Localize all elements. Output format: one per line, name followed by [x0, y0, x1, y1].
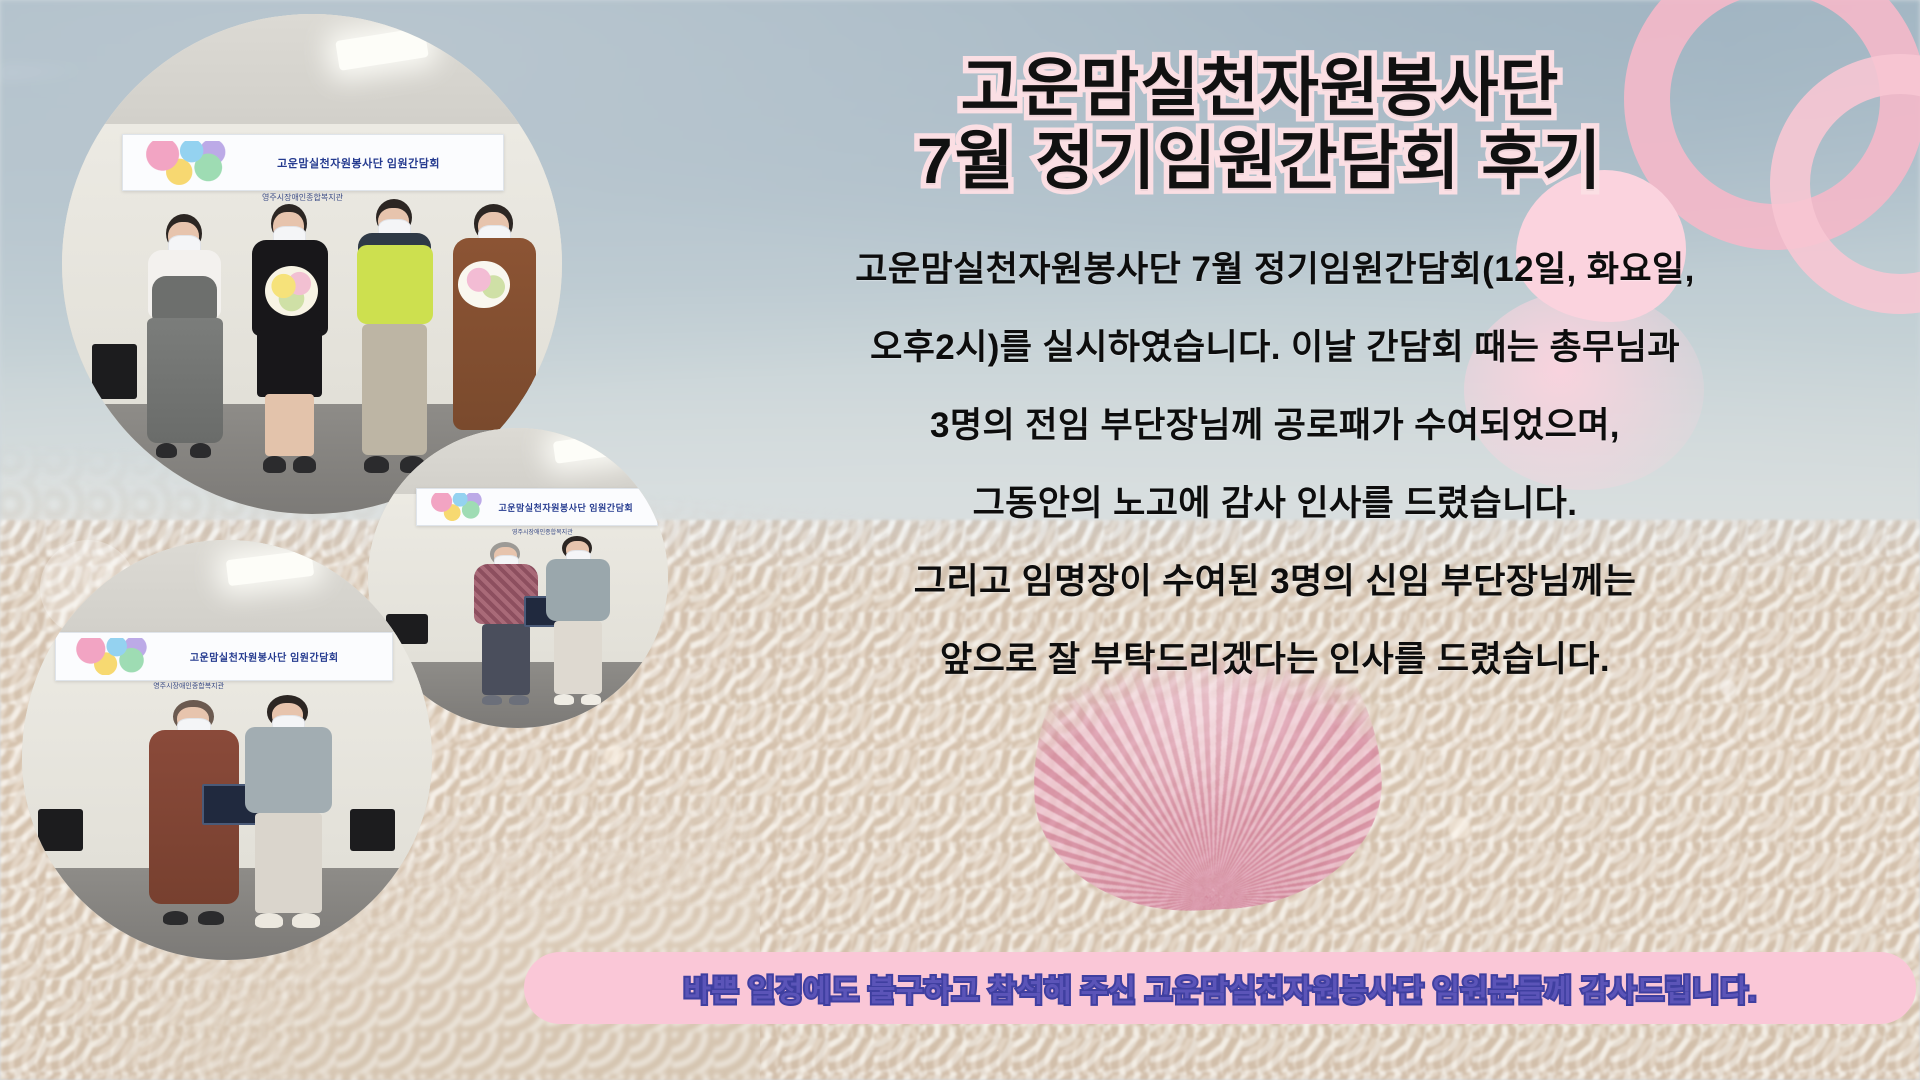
poster-body-text: 고운맘실천자원봉사단 7월 정기임원간담회(12일, 화요일, 오후2시)를 실…: [650, 252, 1900, 677]
banner-subcaption-text: 영주시장애인종합복지관: [153, 681, 224, 691]
body-line-6: 앞으로 잘 부탁드리겠다는 인사를 드렸습니다.: [650, 642, 1900, 677]
photo-person: [542, 536, 614, 710]
photo-person: [137, 214, 232, 474]
banner-logo-dots: [76, 638, 150, 675]
poster-canvas: 고운맘실천자원봉사단 임원간담회 영주시장애인종합복지관: [0, 0, 1920, 1080]
body-line-1: 고운맘실천자원봉사단 7월 정기임원간담회(12일, 화요일,: [650, 252, 1900, 287]
ceiling: [368, 428, 668, 496]
footer-banner-text: 바쁜 일정에도 불구하고 참석해 주신 고운맘실천자원봉사단 임원분들께 감사드…: [683, 966, 1756, 1010]
body-line-2: 오후2시)를 실시하였습니다. 이날 간담회 때는 총무님과: [650, 330, 1900, 365]
photo-person: [239, 695, 337, 934]
ceiling: [22, 540, 432, 634]
photo-person: [242, 204, 337, 484]
ceiling-light: [226, 550, 315, 586]
body-line-3: 3명의 전임 부단장님께 공로패가 수여되었으며,: [650, 408, 1900, 443]
stage-speaker-left: [38, 809, 83, 851]
ceiling-light: [553, 432, 625, 464]
event-backdrop-banner: 고운맘실천자원봉사단 임원간담회: [416, 488, 658, 526]
banner-subcaption-text: 영주시장애인종합복지관: [512, 527, 573, 536]
banner-subcaption-text: 영주시장애인종합복지관: [262, 192, 343, 203]
stage-speaker-left: [92, 344, 137, 399]
ceiling-light: [335, 27, 429, 71]
event-backdrop-banner: 고운맘실천자원봉사단 임원간담회: [55, 632, 393, 680]
stage-speaker-right: [350, 809, 395, 851]
poster-title: 고운맘실천자원봉사단 7월 정기임원간담회 후기: [640, 52, 1880, 198]
photo-room-scene: 고운맘실천자원봉사단 임원간담회 영주시장애인종합복지관: [22, 540, 432, 960]
body-line-5: 그리고 임명장이 수여된 3명의 신임 부단장님께는: [650, 564, 1900, 599]
body-line-4: 그동안의 노고에 감사 인사를 드렸습니다.: [650, 486, 1900, 521]
event-backdrop-banner: 고운맘실천자원봉사단 임원간담회: [122, 134, 504, 191]
photo-person: [447, 204, 542, 464]
photo-bottom-left-award: 고운맘실천자원봉사단 임원간담회 영주시장애인종합복지관: [22, 540, 432, 960]
title-line-1: 고운맘실천자원봉사단: [640, 52, 1880, 125]
banner-logo-dots: [431, 493, 484, 522]
ceiling: [62, 14, 562, 126]
banner-logo-dots: [146, 141, 230, 185]
footer-thankyou-banner: 바쁜 일정에도 불구하고 참석해 주신 고운맘실천자원봉사단 임원분들께 감사드…: [524, 952, 1916, 1024]
title-line-2: 7월 정기임원간담회 후기: [640, 125, 1880, 198]
